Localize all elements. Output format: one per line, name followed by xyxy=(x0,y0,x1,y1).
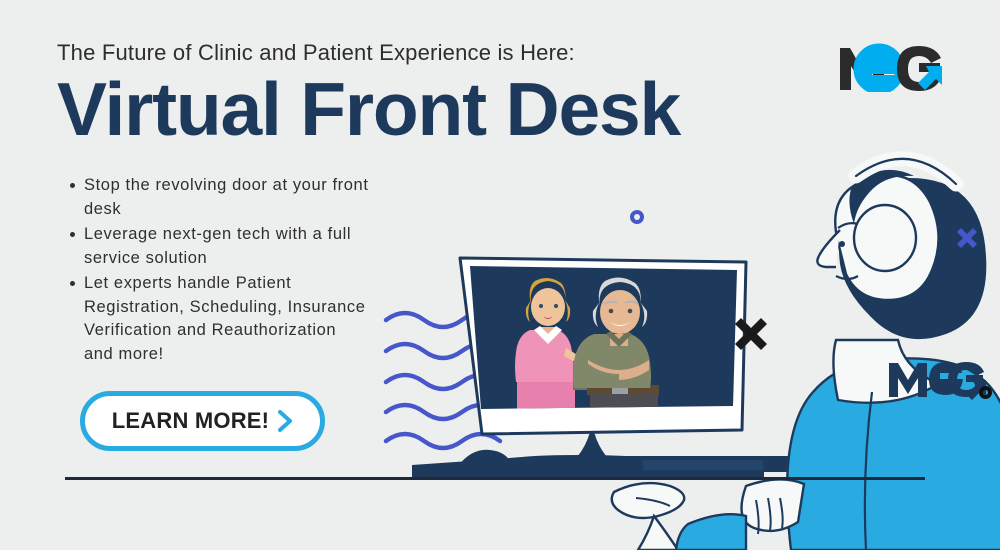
meg-logo xyxy=(838,38,942,92)
list-item: Let experts handle Patient Registration,… xyxy=(84,272,369,366)
chevron-right-icon xyxy=(277,410,293,432)
list-item: Leverage next-gen tech with a full servi… xyxy=(84,223,369,270)
ring-blue-icon xyxy=(630,210,644,224)
desk-line xyxy=(65,477,925,480)
monitor-illustration xyxy=(412,258,764,478)
meg-logo-letter-e xyxy=(858,47,900,91)
page-title: Virtual Front Desk xyxy=(57,68,680,150)
page-subtitle: The Future of Clinic and Patient Experie… xyxy=(57,40,575,66)
banner-stage: The Future of Clinic and Patient Experie… xyxy=(0,0,1000,550)
learn-more-label: LEARN MORE! xyxy=(112,408,269,434)
list-item: Stop the revolving door at your front de… xyxy=(84,174,369,221)
feature-bullet-list: Stop the revolving door at your front de… xyxy=(62,174,369,368)
learn-more-button[interactable]: LEARN MORE! xyxy=(80,391,325,451)
ring-dark-icon xyxy=(979,386,992,399)
